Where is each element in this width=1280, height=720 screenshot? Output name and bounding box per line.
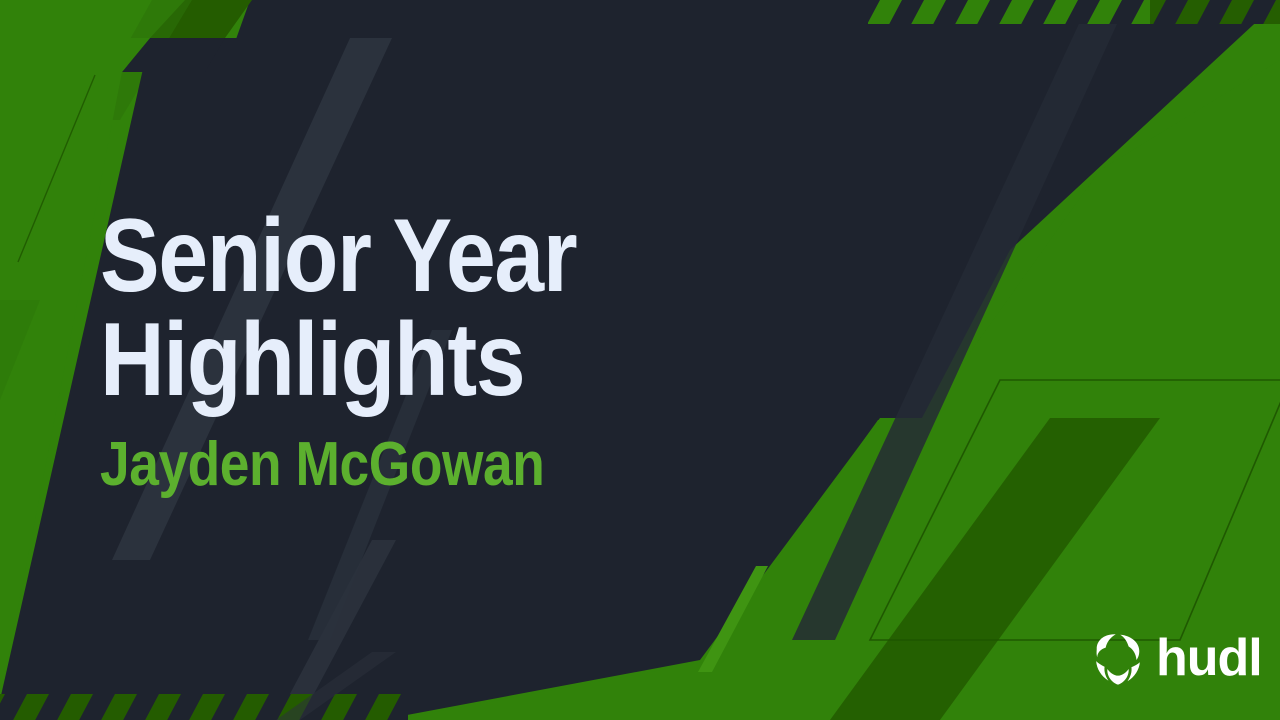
hudl-logo-mark: [1090, 632, 1146, 688]
top-right-stripe-band-dark: [1150, 0, 1280, 24]
title-text-block: Senior Year Highlights Jayden McGowan: [100, 206, 740, 496]
hudl-mark-right-horn: [1128, 662, 1140, 681]
top-right-stripe-band: [868, 0, 1280, 24]
athlete-name: Jayden McGowan: [100, 434, 650, 496]
hudl-mark-left-horn: [1096, 661, 1108, 681]
highlight-title-slide: Senior Year Highlights Jayden McGowan hu…: [0, 0, 1280, 720]
hudl-wordmark: hudl: [1156, 632, 1262, 684]
hudl-mark-top-left-segment: [1097, 634, 1116, 657]
page-title-line-1: Senior Year: [100, 206, 650, 308]
hudl-logo-lockup: hudl: [1090, 632, 1262, 688]
hudl-mark-bottom-jaw: [1107, 669, 1128, 685]
bottom-left-stripe-band: [0, 694, 408, 720]
page-title-line-2: Highlights: [100, 310, 650, 412]
